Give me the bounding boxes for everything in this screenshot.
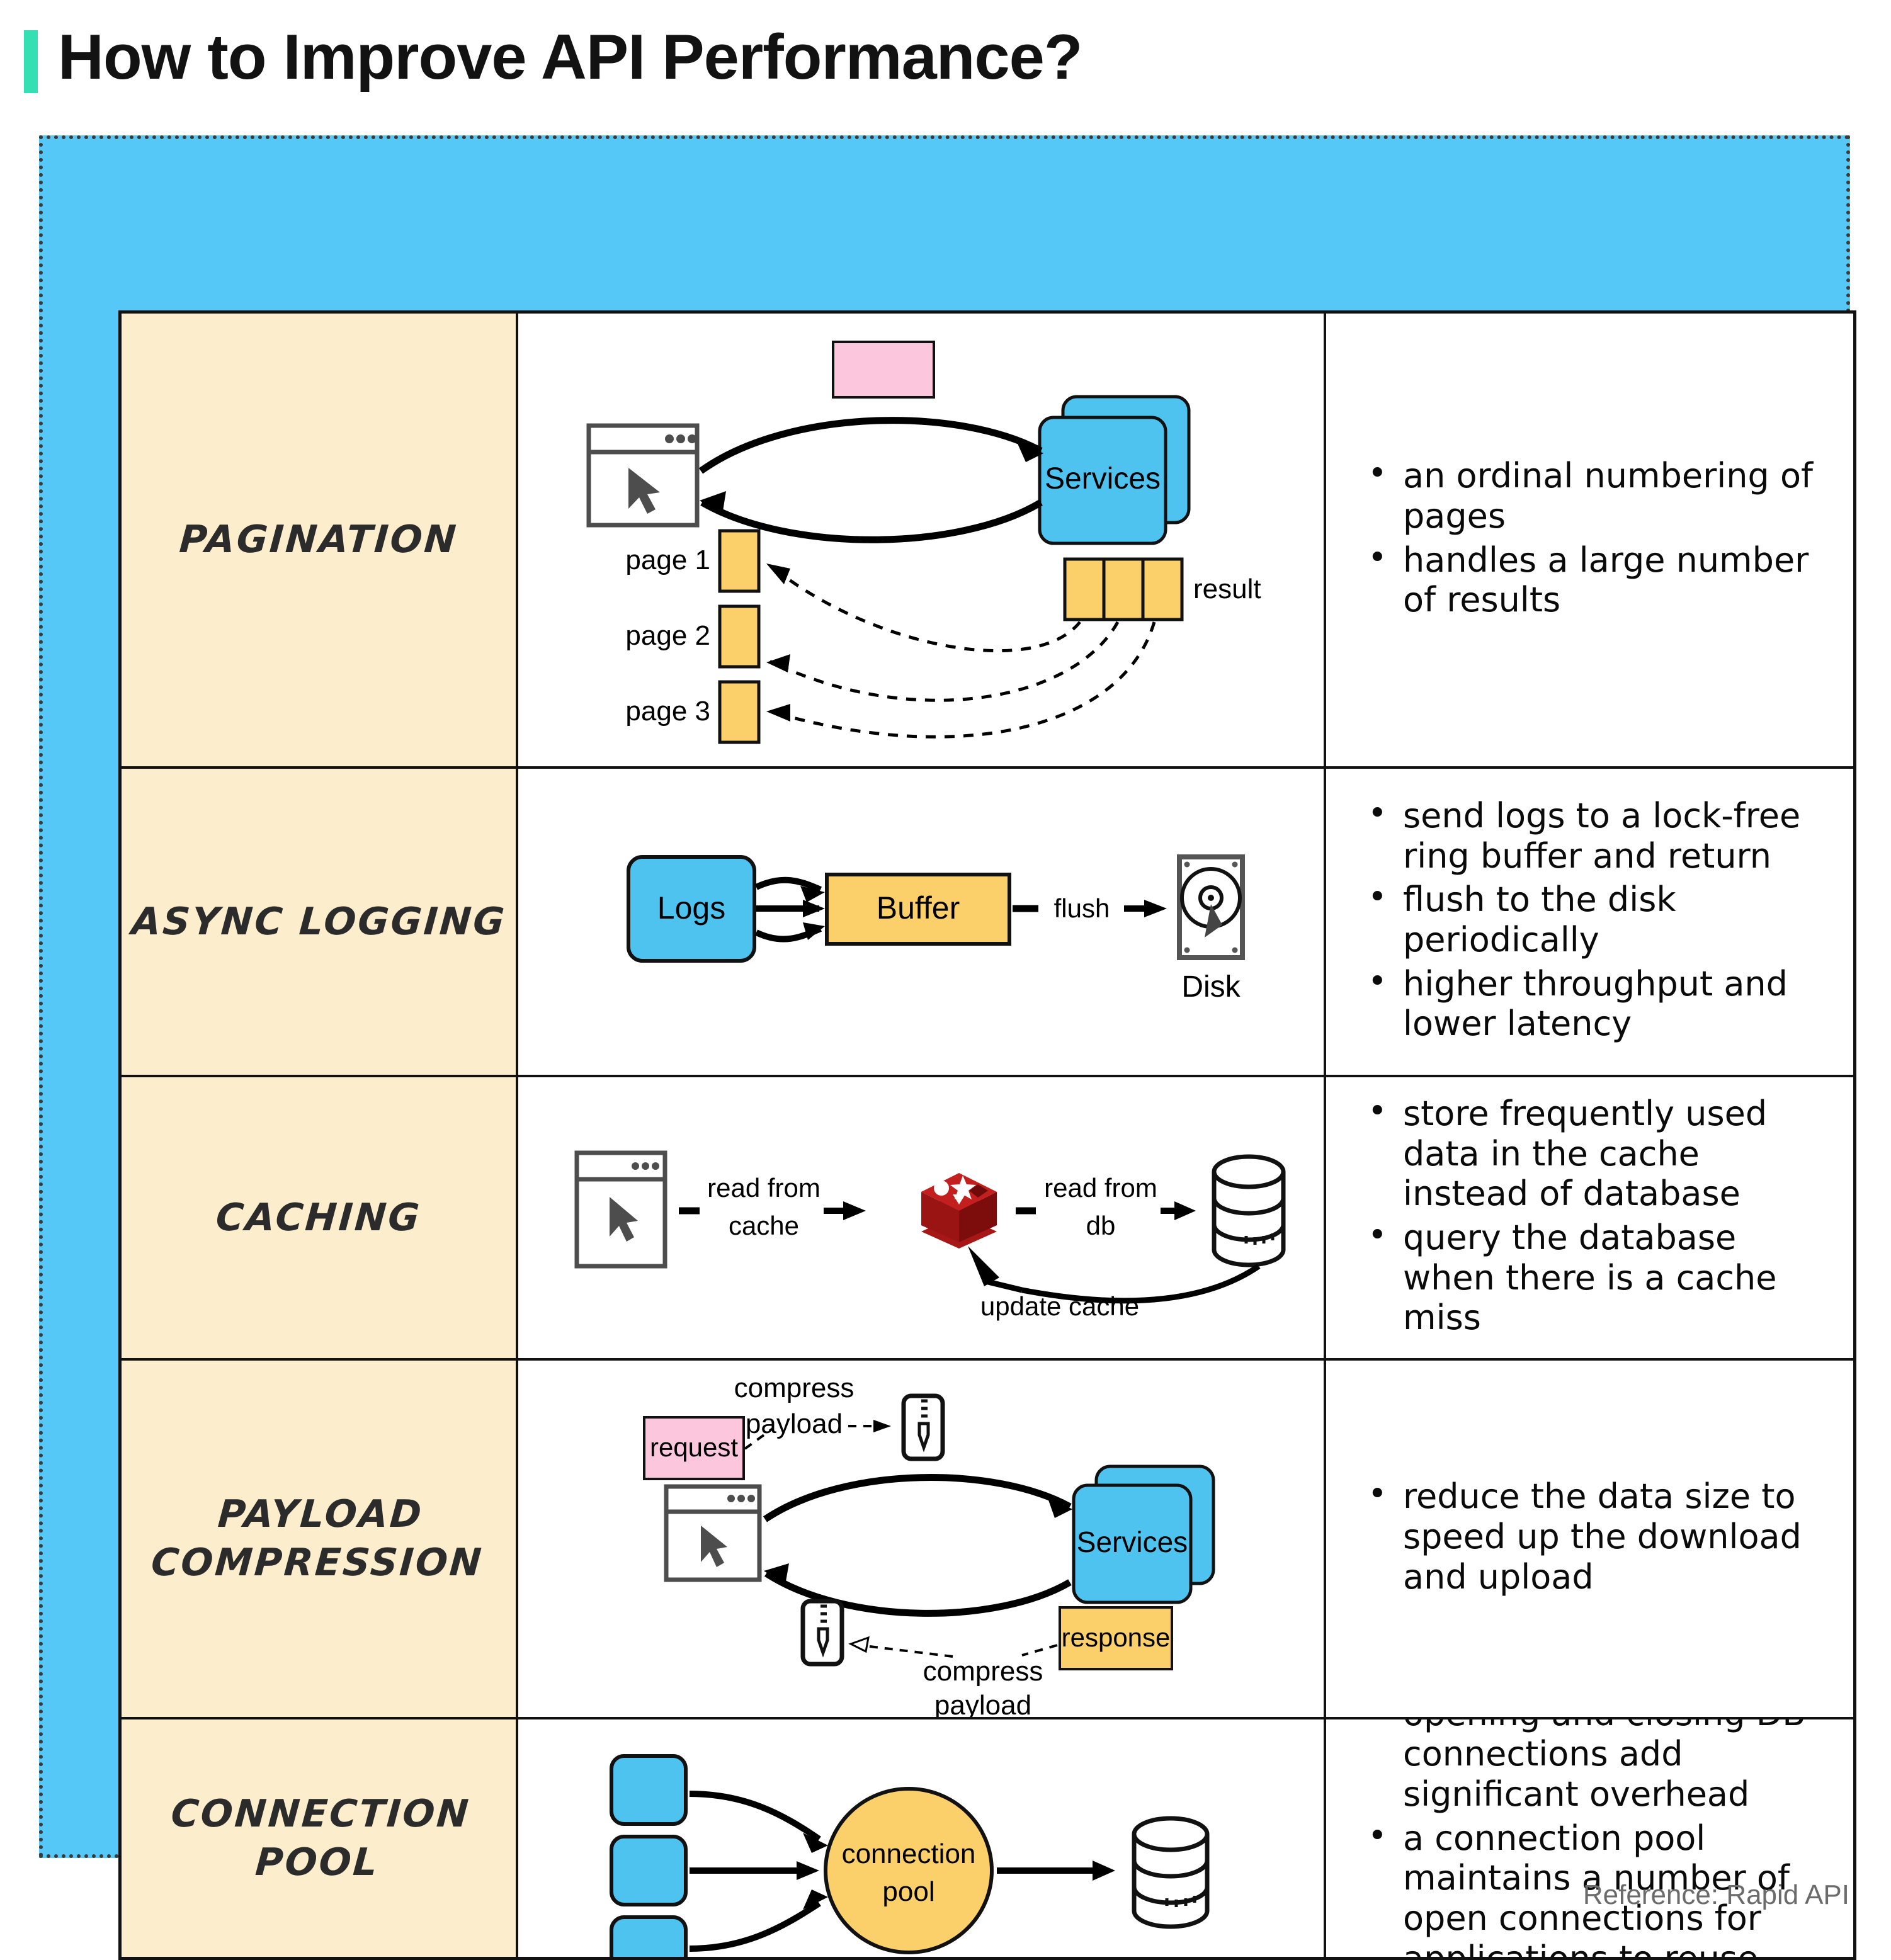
svg-text:db: db [1086,1211,1116,1240]
page-title: How to Improve API Performance? [58,21,1082,94]
svg-text:read from: read from [707,1173,821,1203]
technique-table: Pagination [118,310,1856,1960]
svg-text:payload: payload [746,1408,843,1439]
reference-footer: Reference: Rapid API [1583,1879,1849,1911]
svg-text:read from: read from [1044,1173,1157,1203]
row-label-payload-compression: Payload Compression [122,1361,518,1719]
row-label-line2: Compression [149,1539,484,1587]
row-label-async-logging: Async Logging [122,769,518,1077]
bullets-connection-pool: opening and closing DB connections add s… [1326,1719,1853,1957]
list-item: query the database when there is a cache… [1397,1218,1829,1338]
svg-text:payload: payload [934,1690,1031,1719]
bullets-pagination: an ordinal numbering of pages handles a … [1326,314,1853,769]
bullet-list: store frequently used data in the cache … [1364,1094,1829,1342]
row-label-connection-pool: Connection Pool [122,1719,518,1957]
list-item: higher throughput and lower latency [1397,964,1829,1044]
list-item: flush to the disk periodically [1397,880,1829,960]
svg-text:connection: connection [842,1838,976,1869]
bullet-list: send logs to a lock-free ring buffer and… [1364,796,1829,1048]
svg-text:page 3: page 3 [625,696,710,727]
svg-text:update cache: update cache [980,1291,1139,1321]
svg-text:page 2: page 2 [625,620,710,651]
list-item: handles a large number of results [1397,540,1829,620]
title-accent-bar [24,30,38,93]
poster-frame: Pagination [39,135,1850,1858]
row-label-line1: Payload [153,1490,488,1539]
svg-text:flush: flush [1054,893,1110,923]
diagram-payload-compression: compress payload request [518,1361,1326,1719]
svg-text:Services: Services [1077,1526,1188,1558]
svg-text:compress: compress [923,1656,1043,1687]
list-item: reduce the data size to speed up the dow… [1397,1476,1829,1597]
diagram-async-logging: Logs Buffer flush [518,769,1326,1077]
svg-text:Disk: Disk [1181,970,1241,1004]
bullet-list: opening and closing DB connections add s… [1364,1719,1829,1957]
svg-text:Services: Services [1045,462,1161,496]
row-label-line2: Pool [166,1838,468,1887]
bullets-payload-compression: reduce the data size to speed up the dow… [1326,1361,1853,1719]
svg-text:response: response [1062,1623,1171,1652]
bullets-async-logging: send logs to a lock-free ring buffer and… [1326,769,1853,1077]
row-label-text: Async Logging [130,898,508,946]
page-header: How to Improve API Performance? [0,0,1891,129]
row-label-pagination: Pagination [122,314,518,769]
row-label-text: Caching [214,1194,423,1242]
bullet-list: an ordinal numbering of pages handles a … [1364,456,1829,624]
row-label-text: Pagination [178,516,459,564]
diagram-pagination: Services page 1 page 2 page 3 [518,314,1326,769]
bullet-list: reduce the data size to speed up the dow… [1364,1476,1829,1600]
row-label-text: Payload Compression [149,1490,487,1587]
diagram-caching: read from cache [518,1077,1326,1361]
bullets-caching: store frequently used data in the cache … [1326,1077,1853,1361]
svg-text:result: result [1193,574,1261,604]
diagram-connection-pool: connection pool [518,1719,1326,1957]
row-label-caching: Caching [122,1077,518,1361]
svg-text:cache: cache [729,1211,799,1240]
row-label-line1: Connection [169,1790,472,1838]
list-item: an ordinal numbering of pages [1397,456,1829,536]
svg-text:compress: compress [734,1373,855,1403]
row-label-text: Connection Pool [166,1790,472,1887]
svg-text:page 1: page 1 [625,545,710,575]
svg-text:Buffer: Buffer [877,890,960,926]
svg-text:request: request [650,1432,738,1462]
list-item: opening and closing DB connections add s… [1397,1719,1829,1815]
svg-text:pool: pool [882,1876,934,1907]
svg-text:Logs: Logs [657,890,725,926]
list-item: send logs to a lock-free ring buffer and… [1397,796,1829,876]
list-item: store frequently used data in the cache … [1397,1094,1829,1214]
